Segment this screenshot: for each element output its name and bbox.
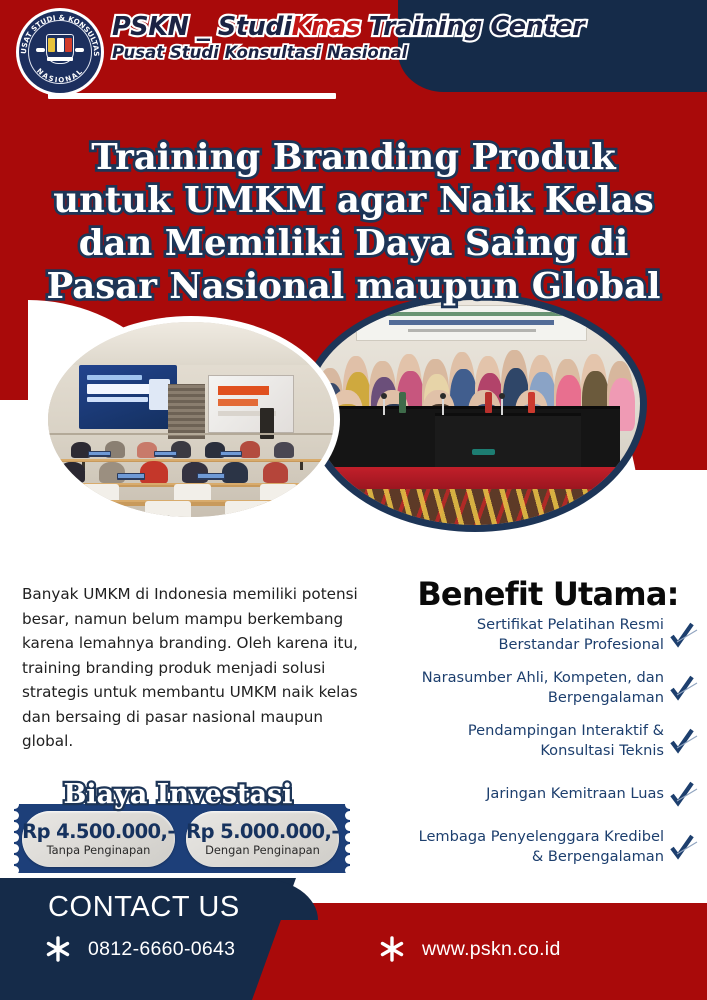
benefit-label: Sertifikat Pelatihan Resmi Berstandar Pr…	[416, 615, 664, 655]
price-option-card[interactable]: Rp 4.500.000,- Tanpa Penginapan	[22, 811, 175, 867]
price-option-card[interactable]: Rp 5.000.000,- Dengan Penginapan	[186, 811, 339, 867]
phone-number: 0812-6660-0643	[88, 938, 235, 961]
brand-subtitle: Pusat Studi Konsultasi Nasional	[112, 43, 672, 62]
price-amount: Rp 5.000.000,-	[186, 822, 339, 842]
benefit-item: Pendampingan Interaktif & Konsultasi Tek…	[398, 721, 698, 761]
benefit-item: Jaringan Kemitraan Luas	[398, 774, 698, 814]
benefit-label: Pendampingan Interaktif & Konsultasi Tek…	[416, 721, 664, 761]
intro-paragraph: Banyak UMKM di Indonesia memiliki potens…	[22, 582, 372, 754]
price-note: Tanpa Penginapan	[47, 845, 151, 856]
check-icon	[668, 779, 698, 809]
contact-website-row[interactable]: www.pskn.co.id	[378, 935, 561, 963]
logo-wing-left	[36, 48, 45, 52]
photo-training-classroom	[48, 322, 334, 517]
brand-header: PSKN _ StudiKnas Training Center Pusat S…	[112, 14, 672, 62]
ribbon-notches-right	[341, 804, 350, 873]
logo-wing-right	[75, 48, 84, 52]
headline-line-4: Pasar Nasional maupun Global	[0, 265, 707, 308]
check-icon	[668, 832, 698, 862]
brand-title: PSKN _ StudiKnas Training Center	[112, 14, 672, 42]
brand-title-accent: Knas	[292, 12, 361, 42]
page-title: Training Branding Produk untuk UMKM agar…	[0, 136, 707, 308]
benefits-list: Sertifikat Pelatihan Resmi Berstandar Pr…	[398, 615, 698, 880]
benefit-label: Lembaga Penyelenggara Kredibel & Berpeng…	[416, 827, 664, 867]
price-amount: Rp 4.500.000,-	[22, 822, 175, 842]
pskn-seal-logo: PUSAT STUDI & KONSULTASI NASIONAL	[16, 8, 104, 96]
benefit-label: Jaringan Kemitraan Luas	[486, 784, 664, 804]
check-icon	[668, 620, 698, 650]
headline-line-1: Training Branding Produk	[0, 136, 707, 179]
benefit-item: Narasumber Ahli, Kompeten, dan Berpengal…	[398, 668, 698, 708]
contact-heading: CONTACT US	[48, 891, 240, 924]
price-note: Dengan Penginapan	[205, 845, 320, 856]
asterisk-icon	[44, 935, 72, 963]
contact-phone-row[interactable]: 0812-6660-0643	[44, 935, 235, 963]
photo-classroom-seating	[48, 439, 334, 517]
footer-navy-curve	[258, 878, 318, 920]
website-url: www.pskn.co.id	[422, 938, 561, 961]
asterisk-icon	[378, 935, 406, 963]
brand-title-part2: Training Center	[360, 12, 584, 42]
pricing-heading: Biaya Investasi	[18, 779, 338, 810]
benefit-label: Narasumber Ahli, Kompeten, dan Berpengal…	[416, 668, 664, 708]
benefit-item: Lembaga Penyelenggara Kredibel & Berpeng…	[398, 827, 698, 867]
logo-book-icon	[48, 38, 72, 52]
benefits-heading: Benefit Utama:	[398, 575, 698, 613]
benefit-item: Sertifikat Pelatihan Resmi Berstandar Pr…	[398, 615, 698, 655]
svg-text:NASIONAL: NASIONAL	[35, 67, 85, 85]
headline-line-2: untuk UMKM agar Naik Kelas	[0, 179, 707, 222]
logo-shield-icon	[46, 34, 74, 64]
check-icon	[668, 726, 698, 756]
poster-canvas: PUSAT STUDI & KONSULTASI NASIONAL PSKN _…	[0, 0, 707, 1000]
headline-line-3: dan Memiliki Daya Saing di	[0, 222, 707, 265]
check-icon	[668, 673, 698, 703]
brand-title-part1: PSKN _ Studi	[112, 12, 292, 42]
photo-group-participants	[310, 300, 640, 525]
